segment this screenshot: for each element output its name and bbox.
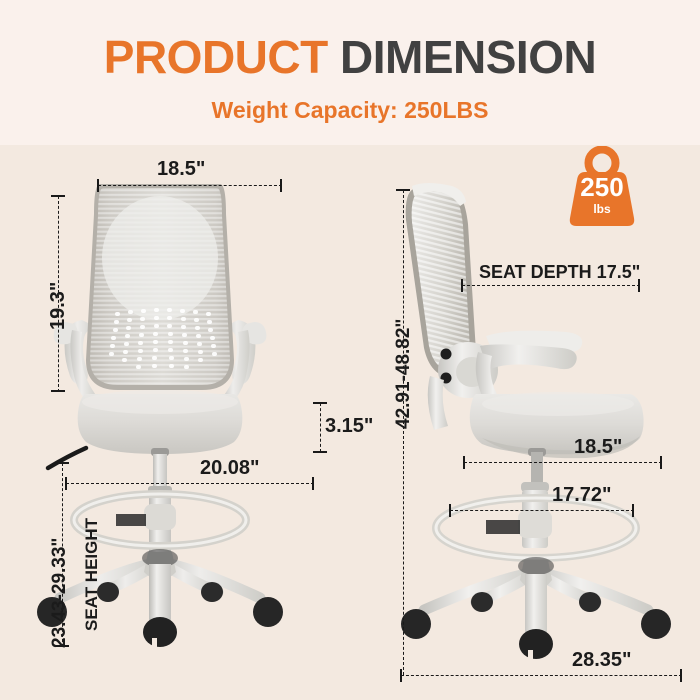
page-subtitle: Weight Capacity: 250LBS: [0, 99, 700, 122]
dimcap-footring-width-left: [65, 477, 67, 490]
dimension-label-seat-thickness: 3.15": [325, 416, 373, 436]
dimension-label-backrest-width: 18.5": [157, 159, 205, 179]
dimcap-footring-depth-right: [632, 504, 634, 517]
dimension-label-overall-height: 42.91-48.82": [394, 319, 413, 429]
dimline-base-width: [401, 675, 682, 677]
side-view-chair-illustration: [390, 180, 690, 680]
title-dark-word: DIMENSION: [340, 31, 596, 83]
dimension-label-footring-width: 20.08": [200, 458, 260, 478]
dimension-label-seat-depth: SEAT DEPTH 17.5": [479, 263, 640, 281]
dimcap-seat-height-top: [55, 462, 69, 464]
dimension-label-seat-width-side: 18.5": [574, 437, 622, 457]
dimcap-base-width-right: [680, 669, 682, 682]
dimcap-backrest-height-top: [51, 195, 65, 197]
dimline-overall-height: [403, 190, 405, 675]
dimcap-base-width-left: [400, 669, 402, 682]
dimline-seat-depth: [462, 285, 640, 287]
dimension-label-base-width: 28.35": [572, 650, 632, 670]
dimension-label-backrest-height: 19.3": [48, 282, 68, 330]
dimcap-overall-height-top: [396, 189, 410, 191]
dimcap-backrest-width-left: [97, 179, 99, 192]
dimline-seat-thickness: [320, 403, 322, 452]
dimline-footring-width: [66, 483, 314, 485]
dimcap-seat-width-side-right: [660, 456, 662, 469]
dimline-backrest-width: [98, 185, 282, 187]
dimcap-backrest-height-bottom: [51, 390, 65, 392]
title-accent-word: PRODUCT: [104, 31, 328, 83]
dimcap-seat-width-side-left: [463, 456, 465, 469]
dimcap-footring-width-right: [312, 477, 314, 490]
dimension-label-seat-height: 23.43-29.33": [50, 538, 69, 648]
dimcap-backrest-width-right: [280, 179, 282, 192]
product-dimension-infographic: PRODUCT DIMENSION Weight Capacity: 250LB…: [0, 0, 700, 700]
page-title: PRODUCT DIMENSION: [0, 34, 700, 80]
dimline-seat-width-side: [464, 462, 662, 464]
dimcap-footring-depth-left: [449, 504, 451, 517]
dimcap-seat-depth-left: [461, 279, 463, 292]
dimcap-seat-thickness-top: [313, 402, 327, 404]
dimcap-seat-thickness-bottom: [313, 451, 327, 453]
dimension-label-footring-depth: 17.72": [552, 485, 612, 505]
dimension-label-seat-height-name: SEAT HEIGHT: [83, 518, 100, 631]
dimline-footring-depth: [450, 510, 634, 512]
